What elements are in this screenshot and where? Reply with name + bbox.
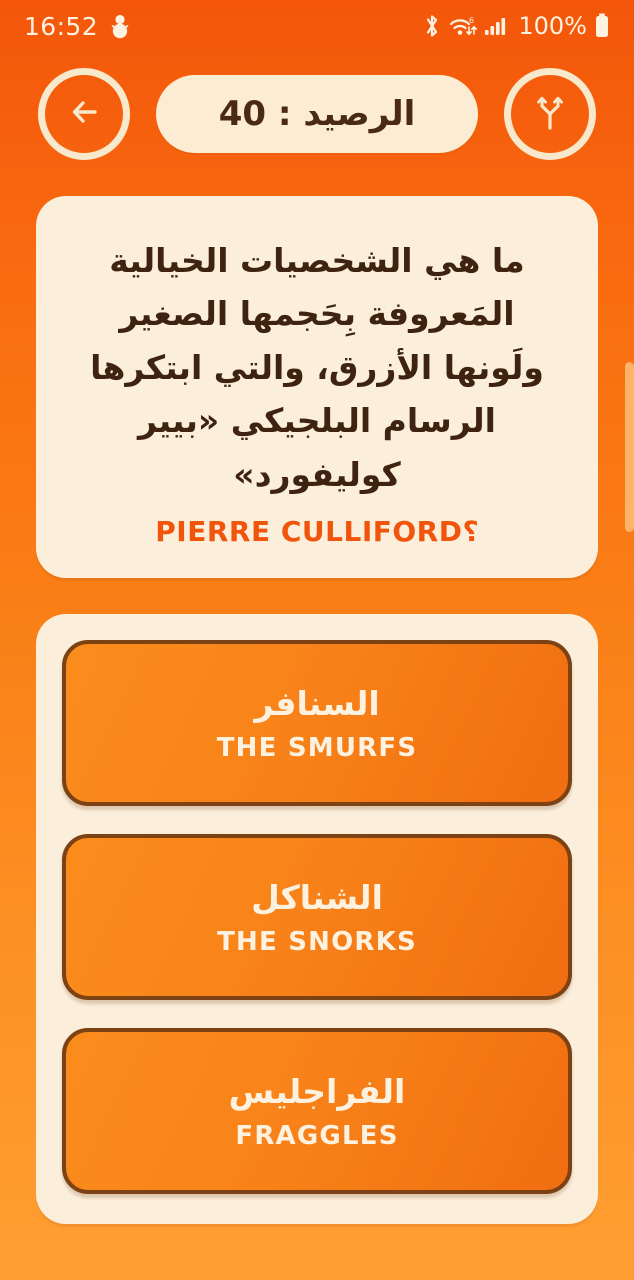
- battery-percent-label: 100%: [518, 12, 587, 40]
- status-bar-left: 16:52: [24, 12, 130, 41]
- answer-english-label: THE SMURFS: [217, 733, 418, 763]
- balance-pill: الرصيد : 40: [156, 75, 478, 153]
- back-arrow-icon: [64, 95, 104, 133]
- answer-arabic-label: الفراجليس: [229, 1072, 406, 1111]
- answer-english-label: THE SNORKS: [217, 927, 417, 957]
- wifi-icon: 6: [449, 13, 477, 39]
- svg-text:6: 6: [469, 16, 474, 25]
- answer-option-2[interactable]: الشناكل THE SNORKS: [62, 834, 572, 1000]
- answer-arabic-label: السنافر: [254, 684, 379, 723]
- shuffle-button[interactable]: [504, 68, 596, 160]
- question-card: ما هي الشخصيات الخيالية المَعروفة بِحَجم…: [36, 196, 598, 578]
- question-text: ما هي الشخصيات الخيالية المَعروفة بِحَجم…: [66, 234, 568, 501]
- status-time: 16:52: [24, 12, 98, 41]
- back-button[interactable]: [38, 68, 130, 160]
- status-bar-right: 6 100%: [422, 12, 610, 40]
- answer-arabic-label: الشناكل: [251, 878, 383, 917]
- answer-english-label: FRAGGLES: [235, 1121, 398, 1151]
- question-subtitle-latin: PIERRE CULLIFORD: [155, 515, 462, 548]
- balance-label: الرصيد : 40: [219, 94, 416, 134]
- question-subtitle-mark: ؟: [462, 515, 478, 548]
- scrollbar-thumb[interactable]: [625, 362, 634, 532]
- app-header: الرصيد : 40: [0, 58, 634, 170]
- answers-panel: السنافر THE SMURFS الشناكل THE SNORKS ال…: [36, 614, 598, 1224]
- fork-branch-icon: [531, 92, 569, 136]
- question-subtitle: ؟PIERRE CULLIFORD: [66, 515, 568, 548]
- snowman-icon: [110, 13, 130, 39]
- status-bar: 16:52 6: [0, 0, 634, 52]
- answer-option-3[interactable]: الفراجليس FRAGGLES: [62, 1028, 572, 1194]
- bluetooth-icon: [422, 13, 442, 39]
- battery-icon: [594, 12, 610, 40]
- scrollbar-track[interactable]: [624, 300, 634, 720]
- answer-option-1[interactable]: السنافر THE SMURFS: [62, 640, 572, 806]
- cellular-signal-icon: [484, 13, 508, 39]
